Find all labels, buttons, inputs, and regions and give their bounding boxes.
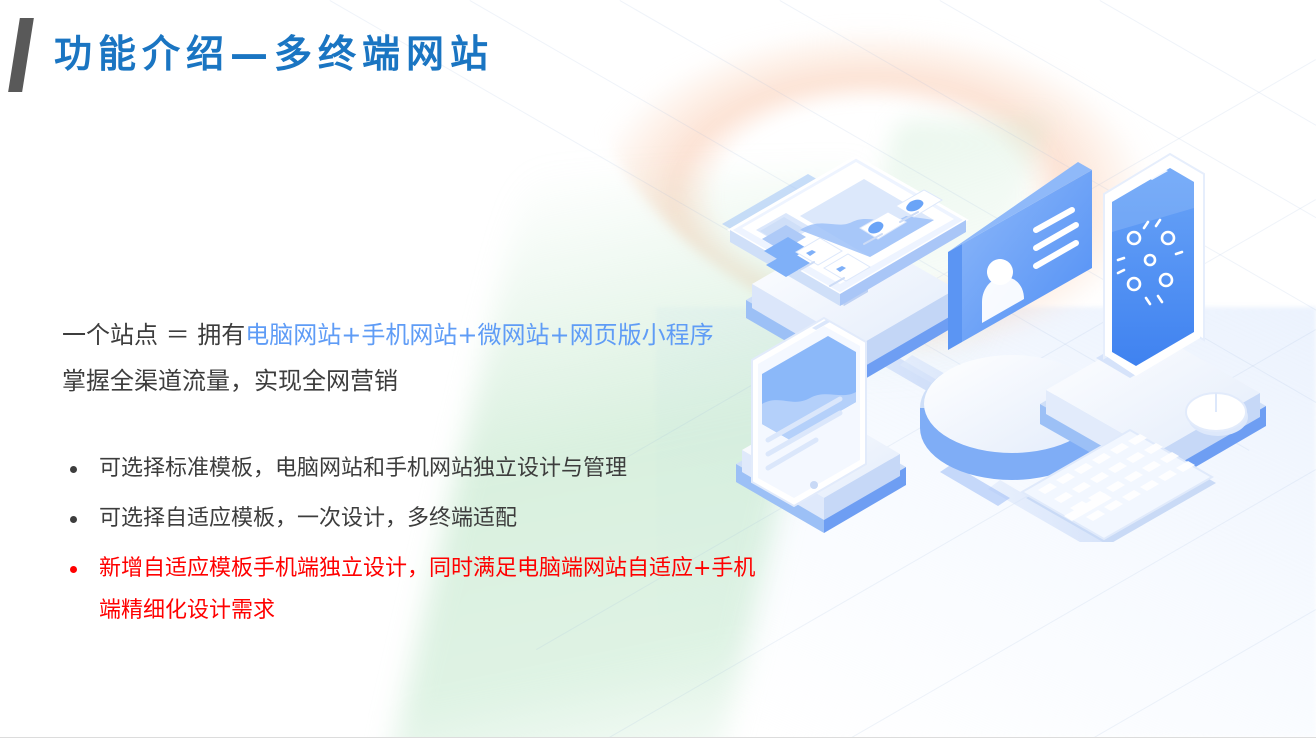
- lead-highlight: 电脑网站+手机网站+微网站+网页版小程序: [245, 321, 713, 349]
- slide-header: 功能介绍—多终端网站: [14, 18, 494, 92]
- list-item: 新增自适应模板手机端独立设计，同时满足电脑端网站自适应+手机端精细化设计需求: [62, 548, 822, 632]
- page-title: 功能介绍—多终端网站: [54, 35, 494, 75]
- bullet-text-highlighted: 新增自适应模板手机端独立设计，同时满足电脑端网站自适应+手机端精细化设计需求: [99, 548, 771, 632]
- bullet-text: 可选择自适应模板，一次设计，多终端适配: [99, 498, 517, 540]
- slide-canvas: 功能介绍—多终端网站 一个站点 ＝ 拥有电脑网站+手机网站+微网站+网页版小程序…: [0, 0, 1316, 738]
- lead-line-2: 掌握全渠道流量，实现全网营销: [62, 358, 782, 404]
- lead-prefix: 一个站点 ＝ 拥有: [62, 321, 245, 349]
- title-accent-bar: [8, 18, 34, 92]
- bullet-dot-icon: [70, 466, 77, 473]
- bullet-text: 可选择标准模板，电脑网站和手机网站独立设计与管理: [99, 448, 627, 490]
- bullet-dot-icon: [70, 516, 77, 523]
- lead-line-1: 一个站点 ＝ 拥有电脑网站+手机网站+微网站+网页版小程序: [62, 312, 782, 358]
- bullet-dot-icon: [70, 566, 77, 573]
- isometric-multi-device-illustration: [700, 112, 1316, 542]
- lead-paragraph: 一个站点 ＝ 拥有电脑网站+手机网站+微网站+网页版小程序 掌握全渠道流量，实现…: [62, 312, 782, 404]
